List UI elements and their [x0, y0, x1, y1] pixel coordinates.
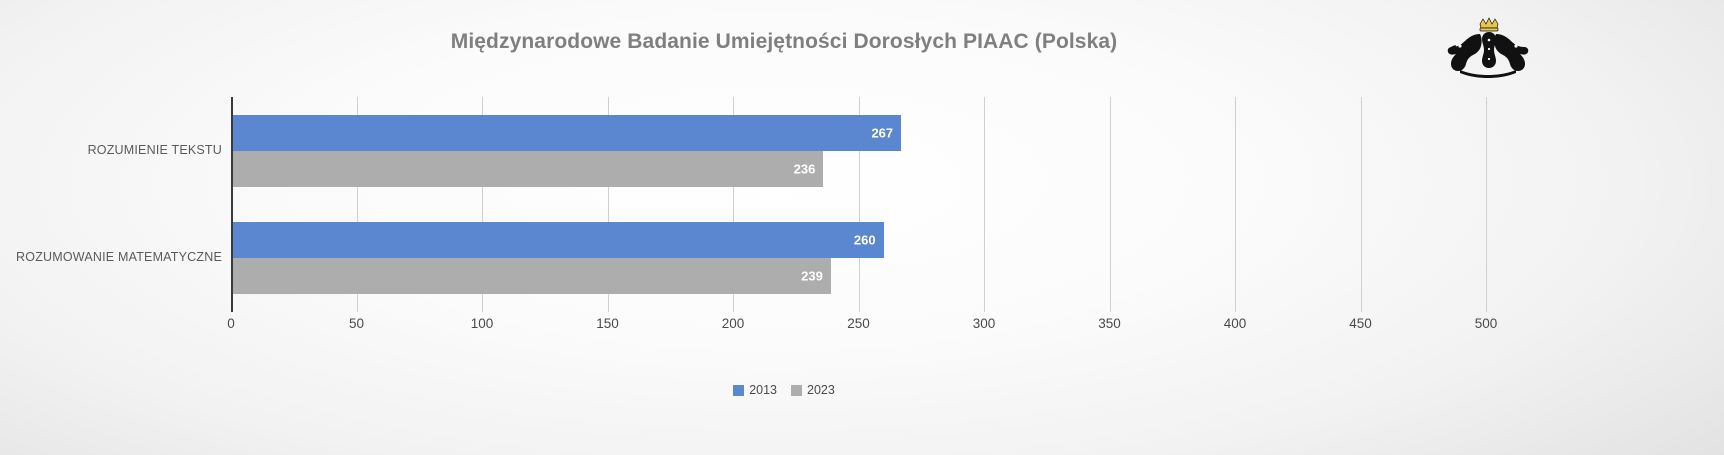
x-tick-150: 150: [596, 316, 619, 331]
gridline: [1235, 97, 1236, 312]
legend-item-2013[interactable]: 2013: [733, 383, 777, 397]
chart-legend: 20132023: [0, 383, 1568, 397]
legend-label-2013: 2013: [749, 383, 777, 397]
bar-value-label: 267: [871, 125, 893, 140]
x-tick-450: 450: [1349, 316, 1372, 331]
gridline: [984, 97, 985, 312]
bar-2013-0[interactable]: 267: [231, 115, 901, 151]
legend-swatch-2023: [791, 385, 802, 396]
bar-2023-0[interactable]: 236: [231, 151, 823, 187]
plot-area: 267236260239: [231, 97, 1486, 312]
gridline: [1486, 97, 1487, 312]
polish-coat-of-arms-icon: [1440, 16, 1536, 78]
legend-swatch-2013: [733, 385, 744, 396]
chart-container: Międzynarodowe Badanie Umiejętności Doro…: [0, 0, 1724, 455]
legend-label-2023: 2023: [807, 383, 835, 397]
gridline: [1361, 97, 1362, 312]
y-axis-label-1: ROZUMOWANIE MATEMATYCZNE: [16, 250, 222, 264]
x-tick-100: 100: [471, 316, 494, 331]
legend-item-2023[interactable]: 2023: [791, 383, 835, 397]
gridline: [1110, 97, 1111, 312]
value-axis-line: [231, 97, 233, 312]
chart-title: Międzynarodowe Badanie Umiejętności Doro…: [0, 30, 1568, 54]
bar-value-label: 236: [794, 161, 816, 176]
bar-value-label: 239: [801, 269, 823, 284]
x-tick-300: 300: [973, 316, 996, 331]
bar-2013-1[interactable]: 260: [231, 222, 884, 258]
bar-value-label: 260: [854, 233, 876, 248]
x-tick-400: 400: [1224, 316, 1247, 331]
x-axis-tick-labels: 050100150200250300350400450500: [0, 316, 1724, 338]
y-axis-label-0: ROZUMIENIE TEKSTU: [88, 143, 222, 157]
x-tick-50: 50: [349, 316, 364, 331]
x-tick-200: 200: [722, 316, 745, 331]
x-tick-350: 350: [1098, 316, 1121, 331]
x-tick-500: 500: [1475, 316, 1498, 331]
y-axis-labels: ROZUMIENIE TEKSTUROZUMOWANIE MATEMATYCZN…: [0, 97, 222, 312]
x-tick-250: 250: [847, 316, 870, 331]
x-tick-0: 0: [227, 316, 235, 331]
bar-2023-1[interactable]: 239: [231, 258, 831, 294]
